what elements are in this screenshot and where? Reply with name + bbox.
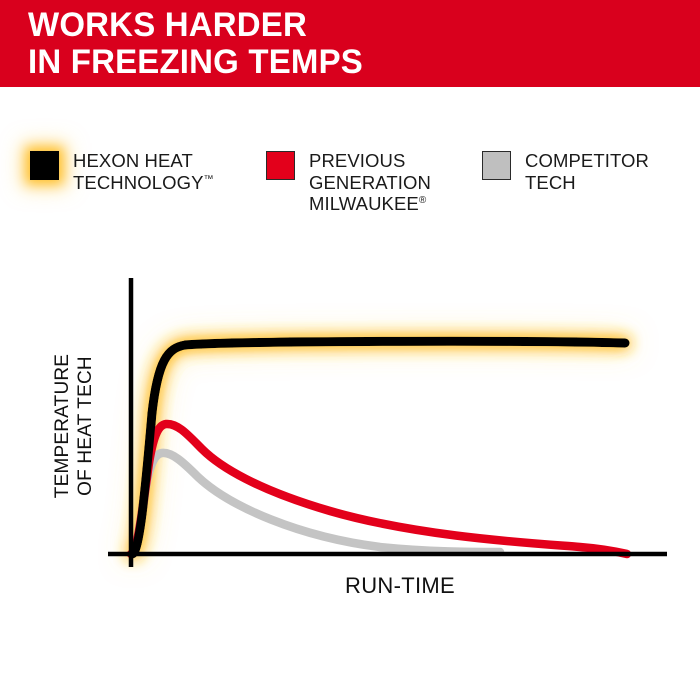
legend-item-hexon-heat-technology: HEXON HEAT TECHNOLOGY™ xyxy=(30,150,255,193)
series-line-previous-generation xyxy=(131,424,627,554)
trademark-mark: ™ xyxy=(204,173,214,184)
legend-item-competitor-tech: COMPETITOR TECH xyxy=(482,150,697,193)
chart-legend: HEXON HEAT TECHNOLOGY™ PREVIOUS GENERATI… xyxy=(0,145,700,240)
legend-swatch-gray-icon xyxy=(482,151,511,180)
legend-item-label: HEXON HEAT TECHNOLOGY™ xyxy=(73,150,214,193)
registered-mark: ® xyxy=(419,195,426,206)
line-chart: TEMPERATURE OF HEAT TECH RUN-TIME xyxy=(0,255,700,615)
page-title: WORKS HARDER IN FREEZING TEMPS xyxy=(28,7,363,81)
chart-plot-svg xyxy=(0,255,700,615)
legend-item-previous-generation-milwaukee: PREVIOUS GENERATION MILWAUKEE® xyxy=(266,150,476,215)
headline-banner: WORKS HARDER IN FREEZING TEMPS xyxy=(0,0,700,87)
legend-item-label: PREVIOUS GENERATION MILWAUKEE® xyxy=(309,150,431,215)
legend-item-label: COMPETITOR TECH xyxy=(525,150,649,193)
infographic-root: WORKS HARDER IN FREEZING TEMPS HEXON HEA… xyxy=(0,0,700,700)
legend-swatch-black-icon xyxy=(30,151,59,180)
legend-swatch-red-icon xyxy=(266,151,295,180)
